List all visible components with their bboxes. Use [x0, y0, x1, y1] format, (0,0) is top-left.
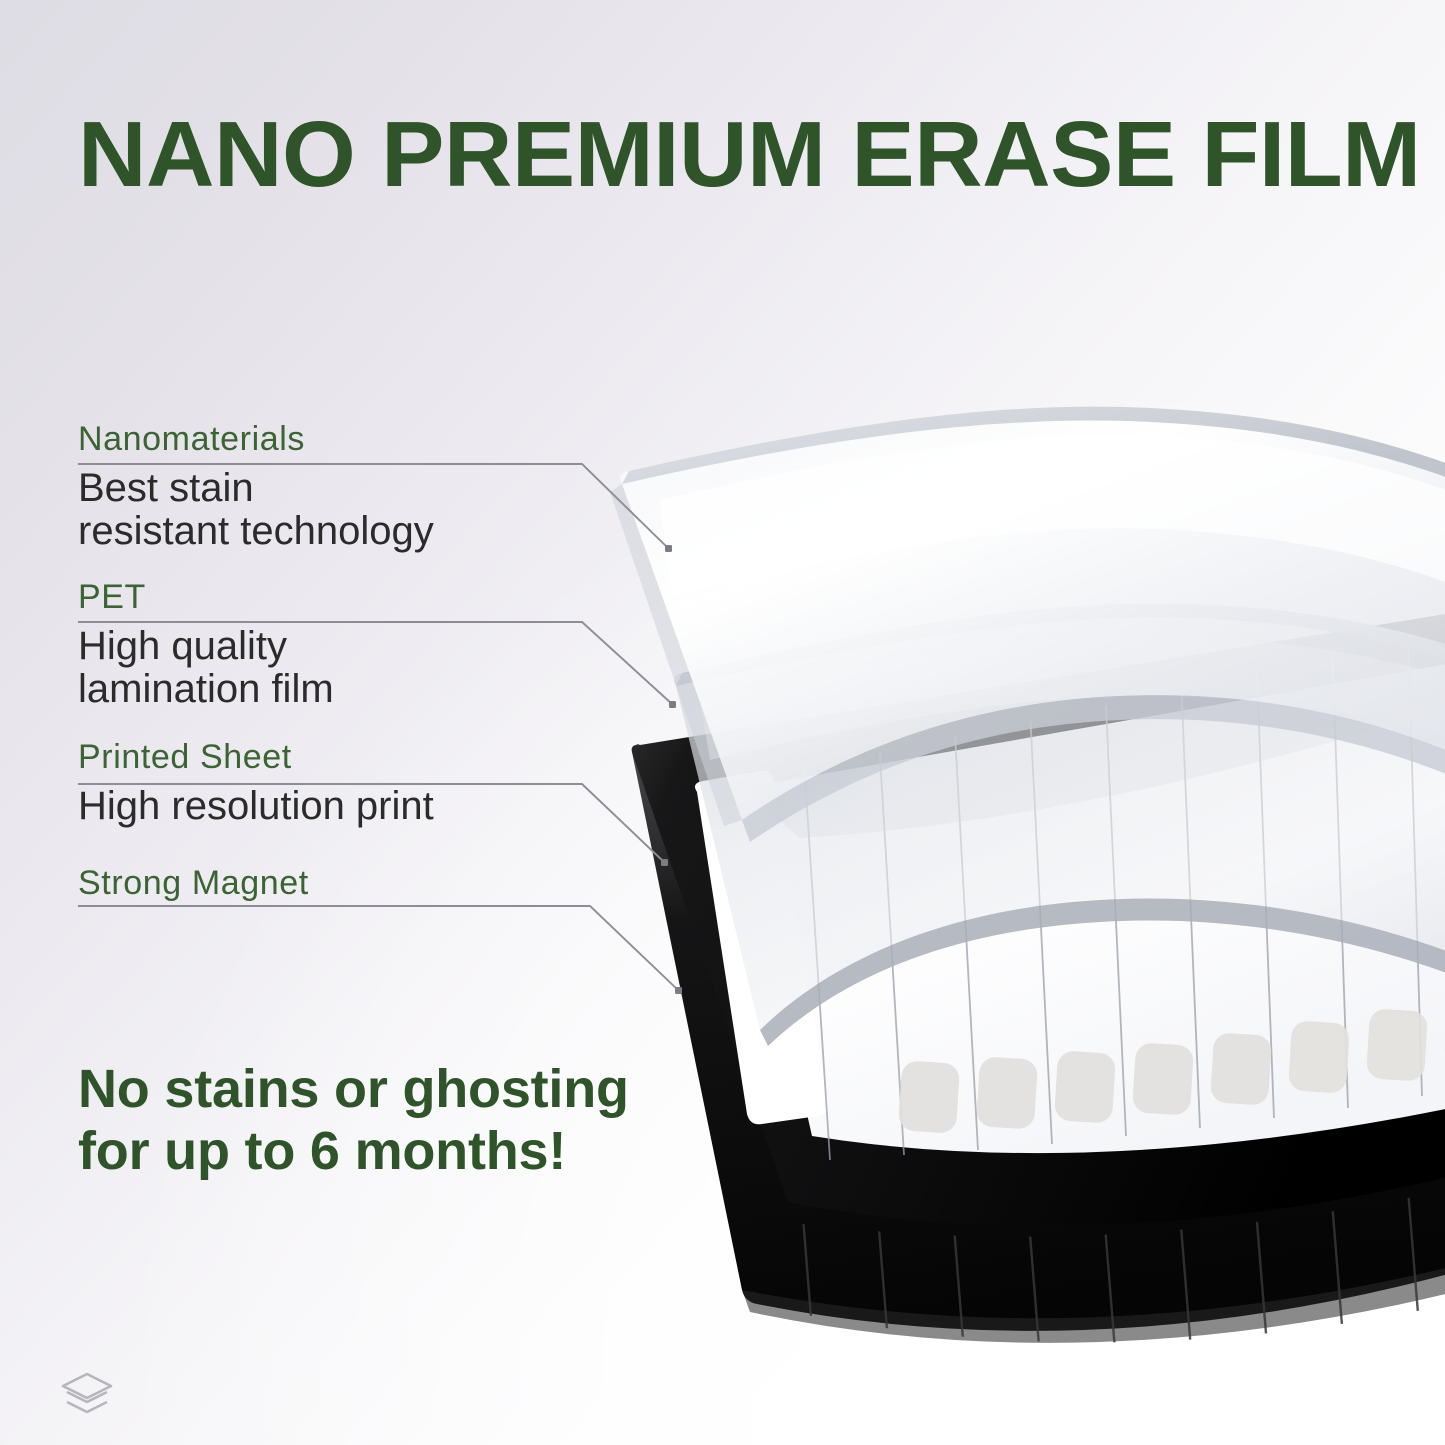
callout-label-strong-magnet: Strong Magnet: [78, 864, 309, 902]
leader-dot-nanomaterials: [665, 545, 672, 552]
callout-leader-lines: [0, 0, 1445, 1445]
callout-label-printed-sheet: Printed Sheet: [78, 738, 434, 776]
callout-description-printed-sheet: High resolution print: [78, 785, 434, 828]
callout-strong-magnet: Strong Magnet: [78, 864, 309, 902]
leader-line-strong-magnet: [78, 906, 678, 990]
callout-printed-sheet: Printed Sheet High resolution print: [78, 738, 434, 828]
callout-pet: PET High quality lamination film: [78, 578, 334, 711]
printed-sheet-layer: [695, 632, 1445, 1160]
callout-label-pet: PET: [78, 578, 334, 616]
layers-stack-icon: [55, 1368, 119, 1424]
tagline: No stains or ghosting for up to 6 months…: [78, 1058, 629, 1182]
leader-dot-printed-sheet: [661, 859, 668, 866]
magnet-layer: [632, 610, 1445, 1362]
callout-description-nanomaterials: Best stain resistant technology: [78, 467, 434, 553]
callout-description-pet: High quality lamination film: [78, 625, 334, 711]
leader-dot-strong-magnet: [675, 987, 682, 994]
leader-dot-pet: [669, 701, 676, 708]
product-infographic: NANO PREMIUM ERASE FILM Nanomaterials Be…: [0, 0, 1445, 1445]
nanomaterial-layer: [610, 407, 1445, 842]
page-title: NANO PREMIUM ERASE FILM: [78, 108, 1404, 201]
callout-nanomaterials: Nanomaterials Best stain resistant techn…: [78, 420, 434, 553]
pet-film-layer: [674, 604, 1445, 1046]
product-layers-illustration: [0, 0, 1445, 1445]
callout-label-nanomaterials: Nanomaterials: [78, 420, 434, 458]
